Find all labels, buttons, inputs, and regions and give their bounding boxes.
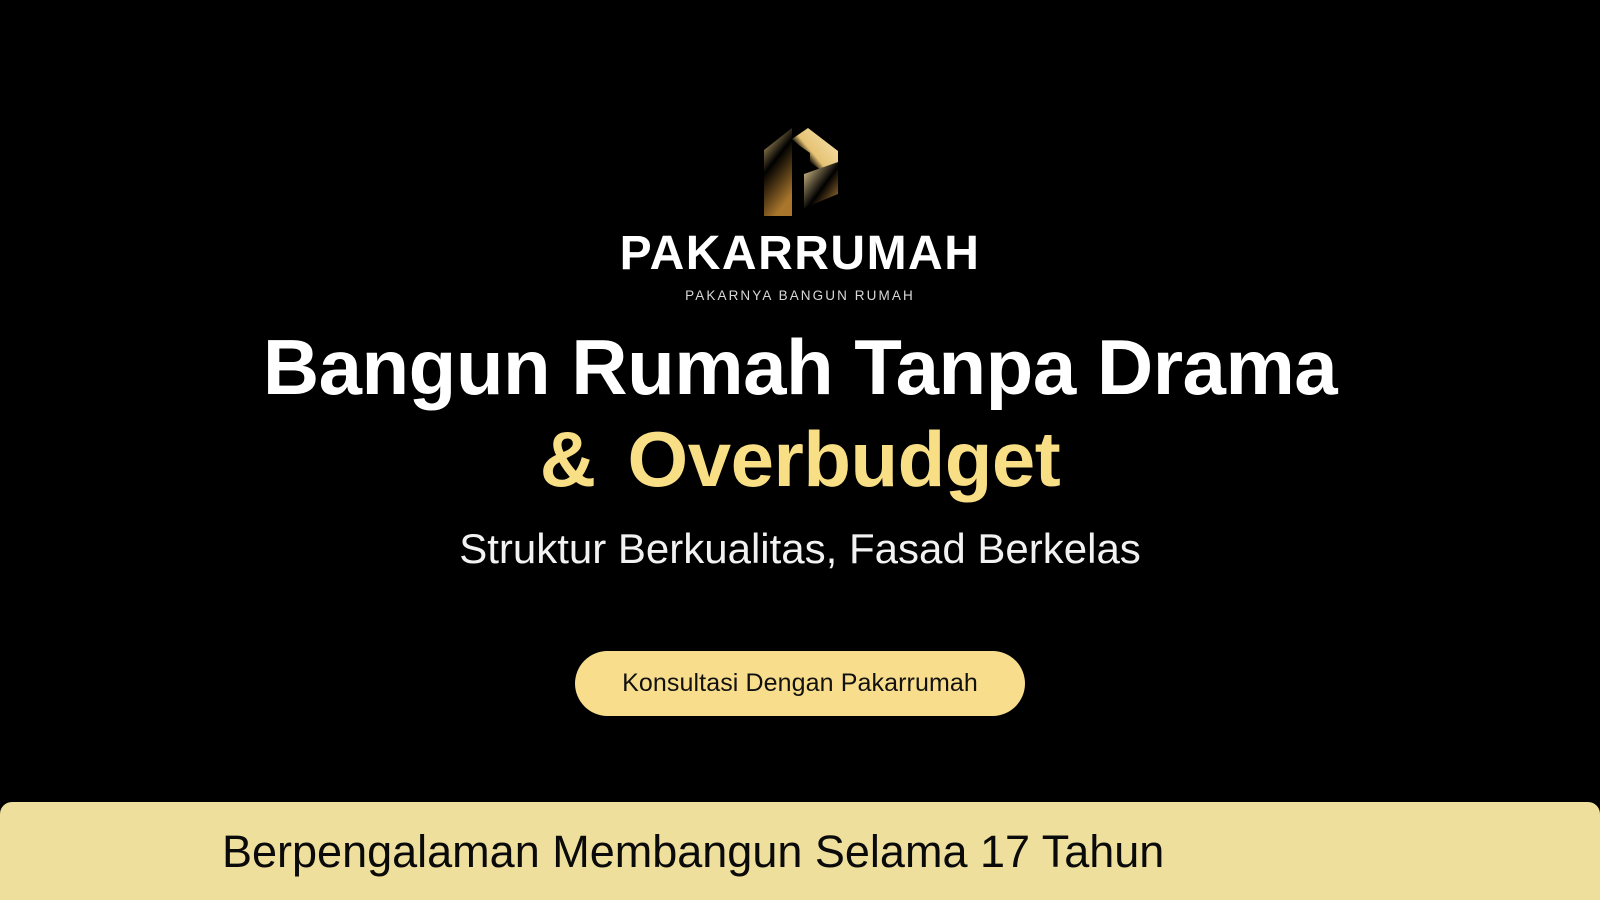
promo-slide: PAKARRUMAH PAKARNYA BANGUN RUMAH Bangun …	[0, 0, 1600, 900]
headline-line-1: Bangun Rumah Tanpa Drama	[0, 325, 1600, 411]
sub-headline: Struktur Berkualitas, Fasad Berkelas	[0, 524, 1600, 574]
headline-line-2: &Overbudget	[0, 417, 1600, 503]
pakarrumah-roof-r-logo-icon	[748, 118, 852, 222]
brand-logo-block: PAKARRUMAH PAKARNYA BANGUN RUMAH	[0, 118, 1600, 303]
headline-group: Bangun Rumah Tanpa Drama &Overbudget	[0, 325, 1600, 503]
experience-banner: Berpengalaman Membangun Selama 17 Tahun	[0, 802, 1600, 900]
cta-wrapper: Konsultasi Dengan Pakarrumah	[0, 651, 1600, 716]
headline-overbudget: Overbudget	[628, 415, 1061, 503]
konsultasi-cta-button[interactable]: Konsultasi Dengan Pakarrumah	[575, 651, 1025, 716]
headline-ampersand: &	[540, 415, 596, 503]
brand-tagline: PAKARNYA BANGUN RUMAH	[685, 289, 915, 303]
brand-wordmark: PAKARRUMAH	[620, 230, 981, 278]
experience-banner-text: Berpengalaman Membangun Selama 17 Tahun	[222, 829, 1164, 874]
